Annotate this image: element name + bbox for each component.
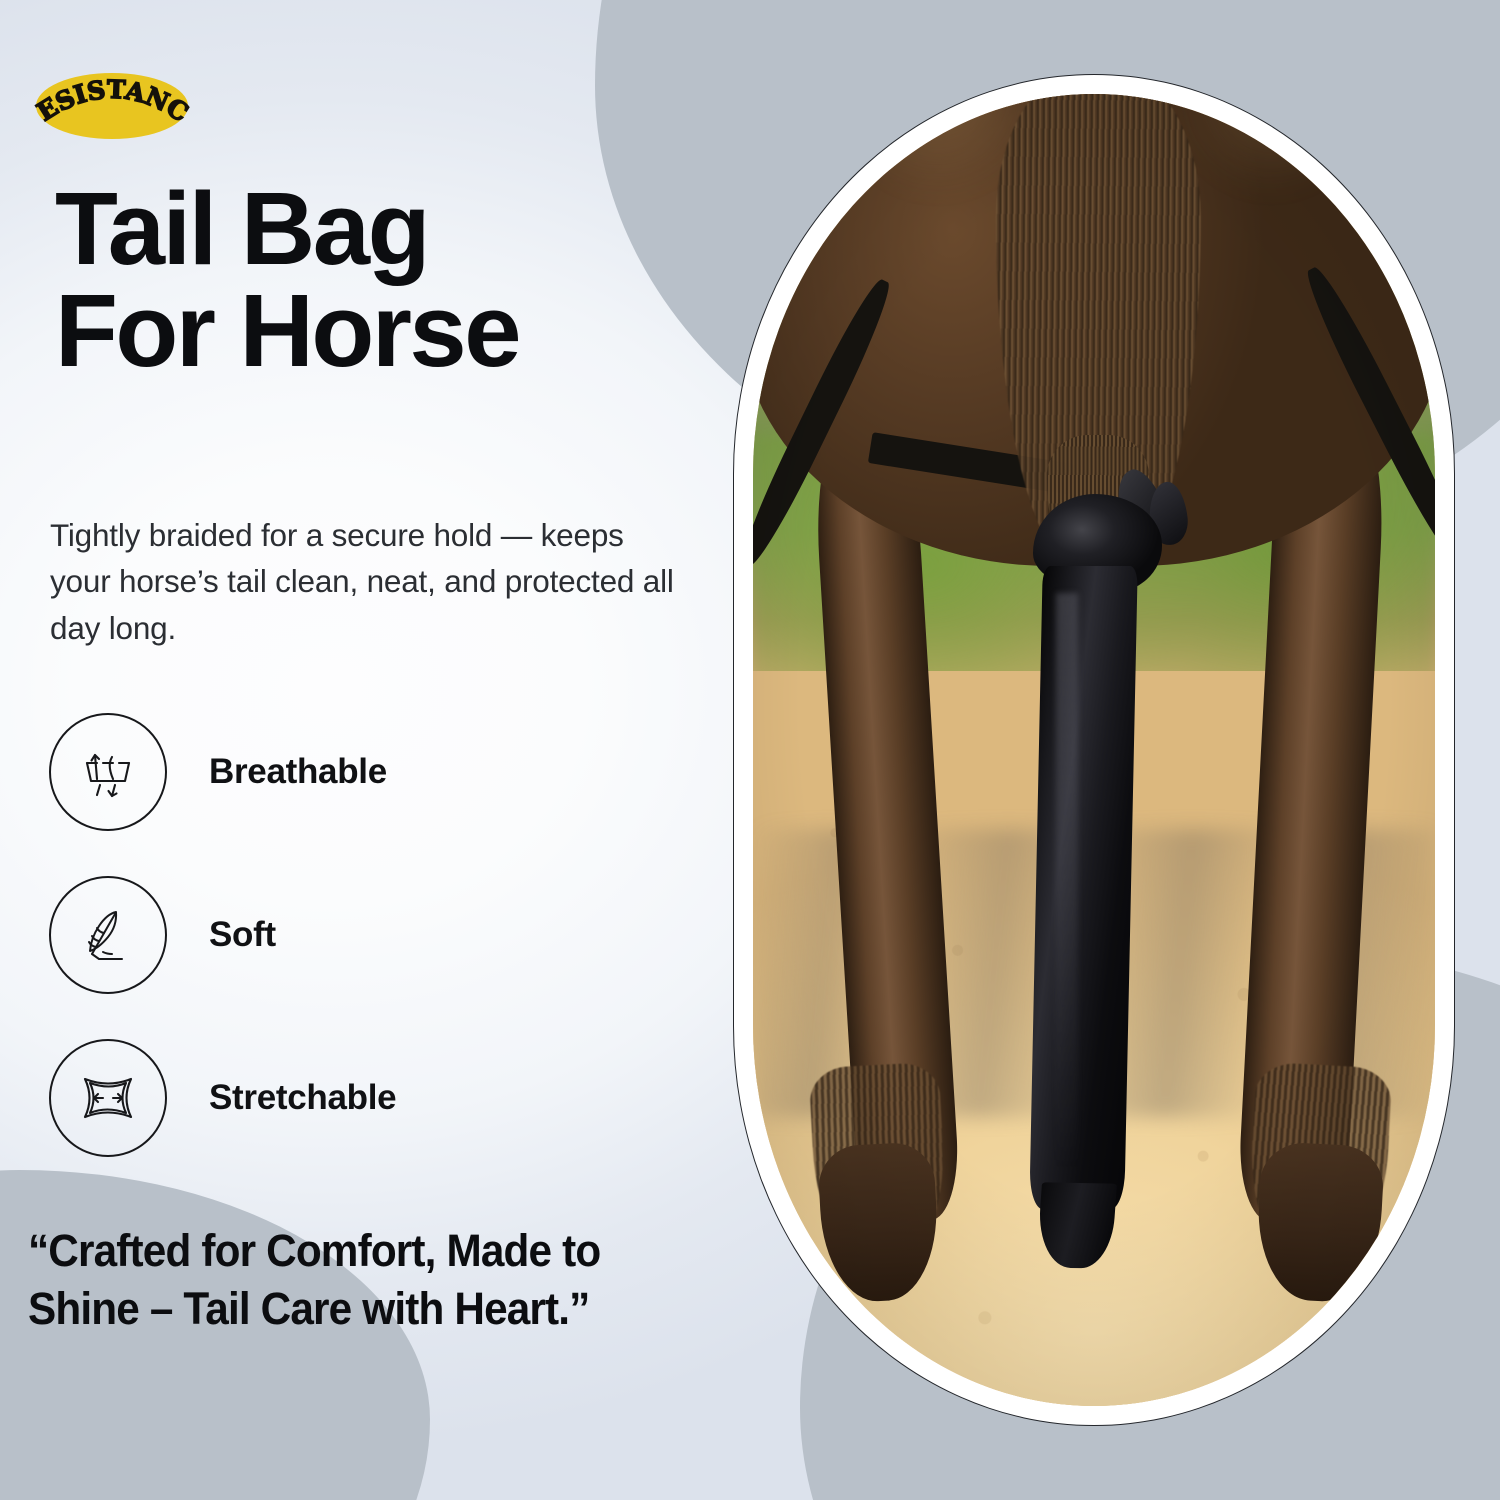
feature-list: Breathable Soft bbox=[49, 713, 709, 1157]
feature-item-stretchable: Stretchable bbox=[49, 1039, 709, 1157]
subtitle-text: Tightly braided for a secure hold — keep… bbox=[50, 512, 690, 651]
quote-line-1: “Crafted for Comfort, Made to bbox=[28, 1222, 705, 1280]
brand-logo: RESISTANCE bbox=[33, 70, 191, 142]
left-content-column: Tail Bag For Horse Tightly braided for a… bbox=[0, 0, 740, 1500]
quote-line-2: Shine – Tail Care with Heart.” bbox=[28, 1280, 705, 1338]
breathable-airflow-icon bbox=[49, 713, 167, 831]
feature-label-stretchable: Stretchable bbox=[209, 1078, 396, 1118]
feature-item-soft: Soft bbox=[49, 876, 709, 994]
feature-item-breathable: Breathable bbox=[49, 713, 709, 831]
poster-canvas: RESISTANCE Tail Bag For Horse Tightly br… bbox=[0, 0, 1500, 1500]
feather-icon bbox=[49, 876, 167, 994]
feature-label-breathable: Breathable bbox=[209, 752, 387, 792]
tail-bag-highlight bbox=[1056, 593, 1078, 1170]
product-photo bbox=[753, 94, 1435, 1406]
stretch-arrows-icon bbox=[49, 1039, 167, 1157]
tail-bag-body bbox=[1029, 566, 1138, 1209]
horse-coat-highlight-right bbox=[1179, 94, 1363, 192]
page-title: Tail Bag For Horse bbox=[55, 178, 695, 382]
feature-label-soft: Soft bbox=[209, 915, 276, 955]
headline-line-1: Tail Bag bbox=[55, 171, 428, 286]
tagline-quote: “Crafted for Comfort, Made to Shine – Ta… bbox=[28, 1222, 705, 1337]
headline-line-2: For Horse bbox=[55, 280, 695, 382]
product-photo-frame bbox=[733, 74, 1455, 1426]
